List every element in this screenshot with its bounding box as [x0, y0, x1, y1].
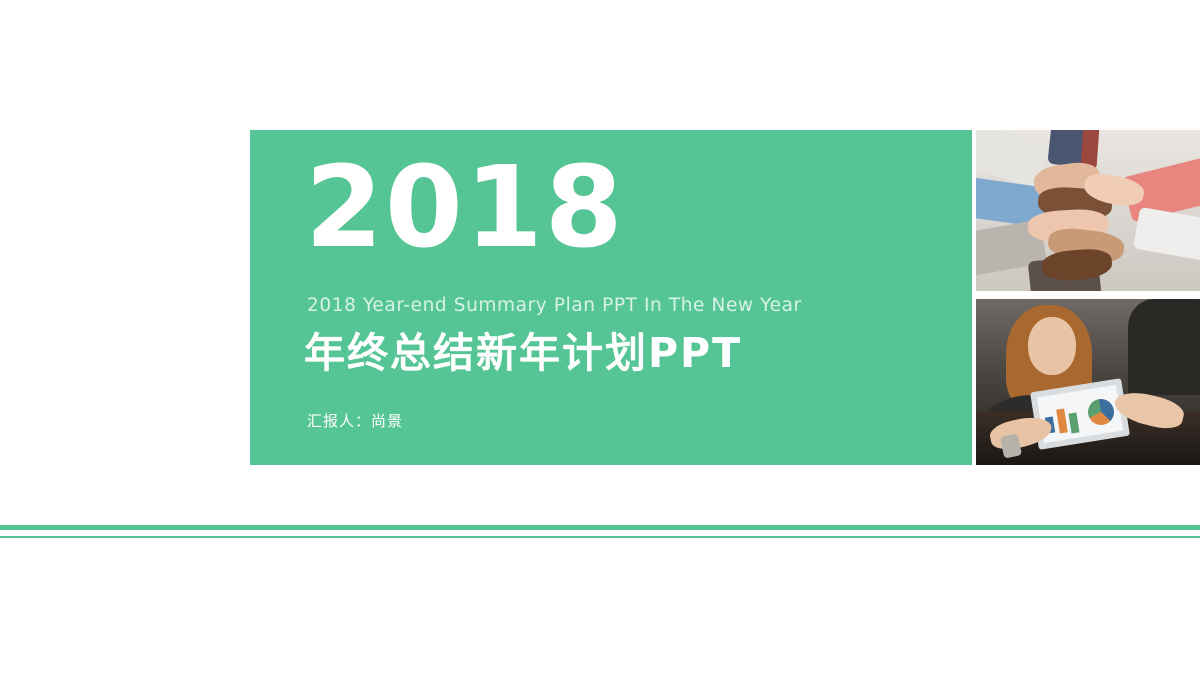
- team-hands-stacked-photo: [976, 130, 1200, 291]
- person-face: [1028, 317, 1076, 375]
- accent-rule-thick: [0, 525, 1200, 530]
- accent-rule-thin: [0, 536, 1200, 538]
- chinese-title: 年终总结新年计划PPT: [304, 319, 742, 379]
- english-subtitle: 2018 Year-end Summary Plan PPT In The Ne…: [307, 295, 802, 316]
- meeting-tablet-photo: [976, 299, 1200, 465]
- title-panel: 2018 2018 Year-end Summary Plan PPT In T…: [250, 130, 972, 465]
- presenter-label: 汇报人：尚景: [307, 410, 403, 431]
- person-right-silhouette: [1128, 299, 1200, 395]
- presentation-slide: 2018 2018 Year-end Summary Plan PPT In T…: [0, 0, 1200, 675]
- year-heading: 2018: [305, 152, 625, 264]
